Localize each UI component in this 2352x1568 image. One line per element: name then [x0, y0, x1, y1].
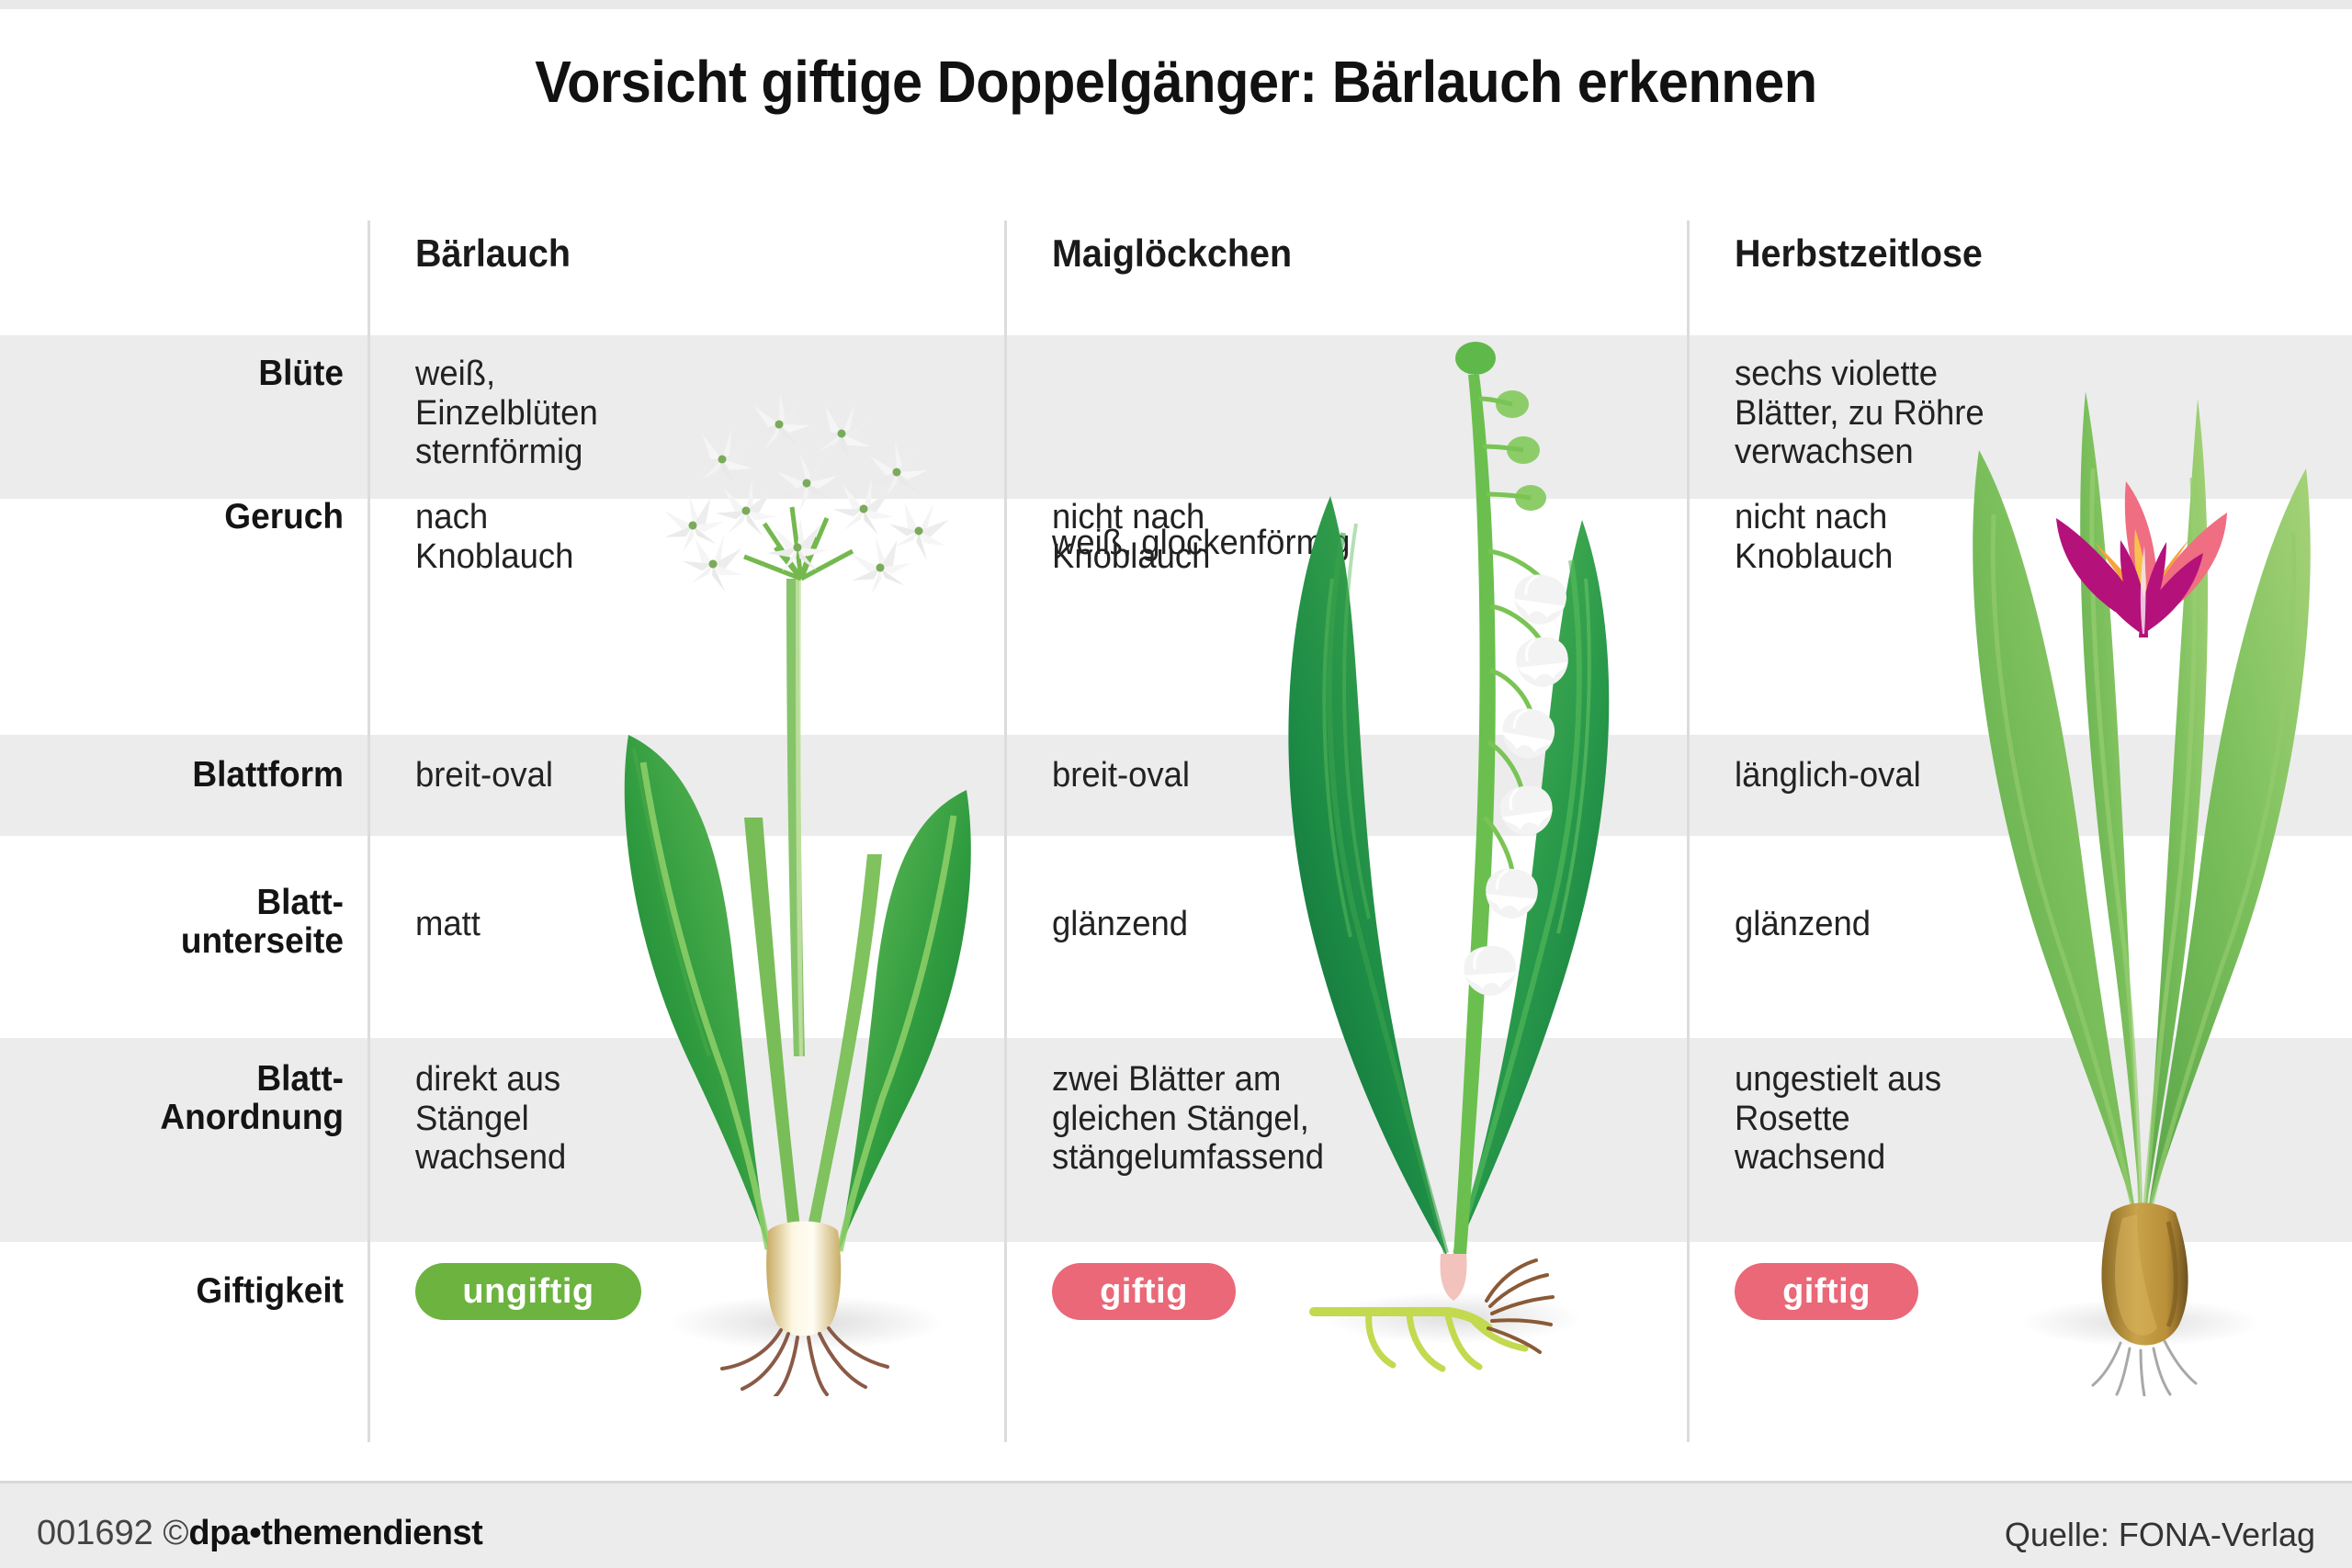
top-border [0, 0, 2352, 9]
lily-of-the-valley-plant-illustration [1259, 303, 1645, 1396]
column-divider-2 [1004, 220, 1007, 1442]
row-label-blattanordnung: Blatt-Anordnung [0, 1060, 344, 1137]
row-label-giftigkeit: Giftigkeit [0, 1272, 344, 1311]
graphic-number: 001692 [37, 1514, 153, 1552]
copyright-symbol: © [163, 1514, 188, 1552]
column-header-herbstzeitlose: Herbstzeitlose [1735, 231, 1983, 276]
column-divider-3 [1687, 220, 1690, 1442]
row-label-bluete: Blüte [0, 355, 344, 393]
column-divider-1 [367, 220, 370, 1442]
wild-garlic-plant-illustration [606, 303, 992, 1396]
row-label-line-2: unterseite [181, 921, 344, 961]
row-label-geruch: Geruch [0, 498, 344, 536]
row-label-blattform: Blattform [0, 756, 344, 795]
row-label-line-2: Anordnung [160, 1098, 344, 1137]
column-header-maigloeckchen: Maiglöckchen [1052, 231, 1292, 276]
column-header-baerlauch: Bärlauch [415, 231, 571, 276]
status-badge-maigloeckchen: giftig [1052, 1263, 1236, 1320]
row-label-line-1: Blatt- [256, 883, 344, 922]
row-label-blattunterseite: Blatt-unterseite [0, 884, 344, 961]
footer-source: Quelle: FONA-Verlag [2005, 1516, 2315, 1554]
status-badge-herbstzeitlose: giftig [1735, 1263, 1918, 1320]
footer-credit: 001692 ©dpa•themendienst [37, 1514, 482, 1553]
row-label-line-1: Blatt- [256, 1059, 344, 1099]
publisher-name: dpa•themendienst [188, 1514, 482, 1552]
autumn-crocus-plant-illustration [1948, 303, 2334, 1396]
page-title: Vorsicht giftige Doppelgänger: Bärlauch … [83, 48, 2270, 116]
